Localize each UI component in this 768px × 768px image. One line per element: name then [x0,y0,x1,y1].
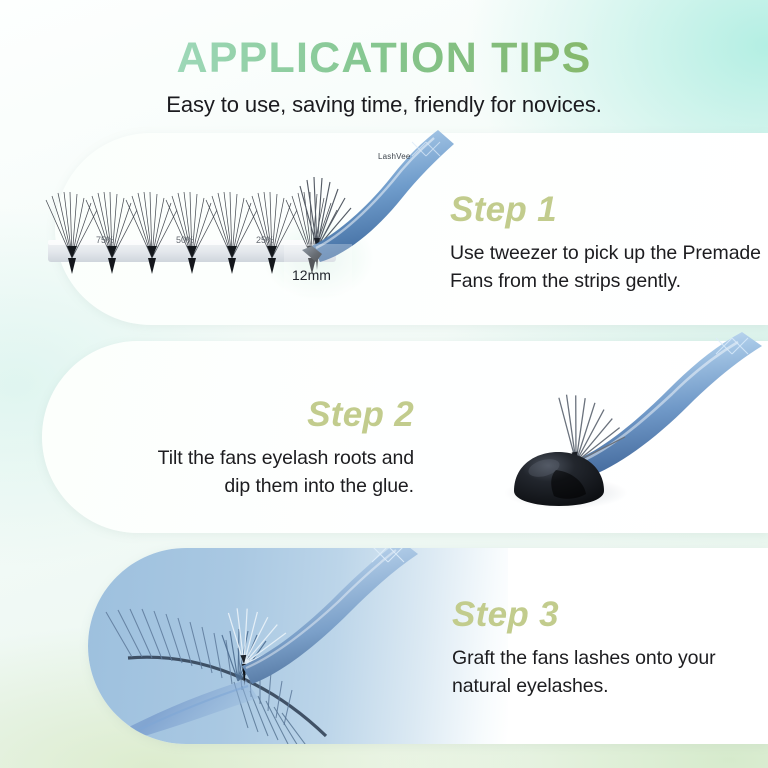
step-1-artwork: 75% 50% 25% 12mm [40,140,460,320]
step-3-heading: Step 3 [452,597,716,632]
step-2-artwork [480,340,768,530]
step-2-body-line-1: Tilt the fans eyelash roots and [96,445,414,473]
tweezer-icon [576,332,762,478]
brand-label-text: LashVee [378,152,411,161]
page-subtitle: Easy to use, saving time, friendly for n… [0,81,768,118]
step-2-heading: Step 2 [96,397,414,432]
step-2-body: Tilt the fans eyelash roots and dip them… [96,445,414,500]
infographic-page: APPLICATION TIPS Easy to use, saving tim… [0,0,768,768]
step-2-text: Step 2 Tilt the fans eyelash roots and d… [96,397,414,500]
step-3-text: Step 3 Graft the fans lashes onto your n… [452,597,716,700]
fan-length-label: 12mm [292,267,331,283]
step-3-body-line-1: Graft the fans lashes onto your [452,645,716,673]
step-3-body-line-2: natural eyelashes. [452,673,716,701]
strip-label-75: 75% [96,235,114,245]
header: APPLICATION TIPS Easy to use, saving tim… [0,0,768,118]
step-1-body-line-2: Fans from the strips gently. [450,268,761,296]
step-1-body-line-1: Use tweezer to pick up the Premade [450,240,761,268]
tweezer-brand-label: LashVee [378,146,411,164]
step-1-text: Step 1 Use tweezer to pick up the Premad… [450,192,761,295]
page-title: APPLICATION TIPS [0,0,768,81]
step-1-heading: Step 1 [450,192,761,227]
step-3-body: Graft the fans lashes onto your natural … [452,645,716,700]
tweezer-icon [242,548,418,684]
step-1-body: Use tweezer to pick up the Premade Fans … [450,240,761,295]
strip-label-50: 50% [176,235,194,245]
strip-label-25: 25% [256,235,274,245]
step-2-body-line-2: dip them into the glue. [96,473,414,501]
